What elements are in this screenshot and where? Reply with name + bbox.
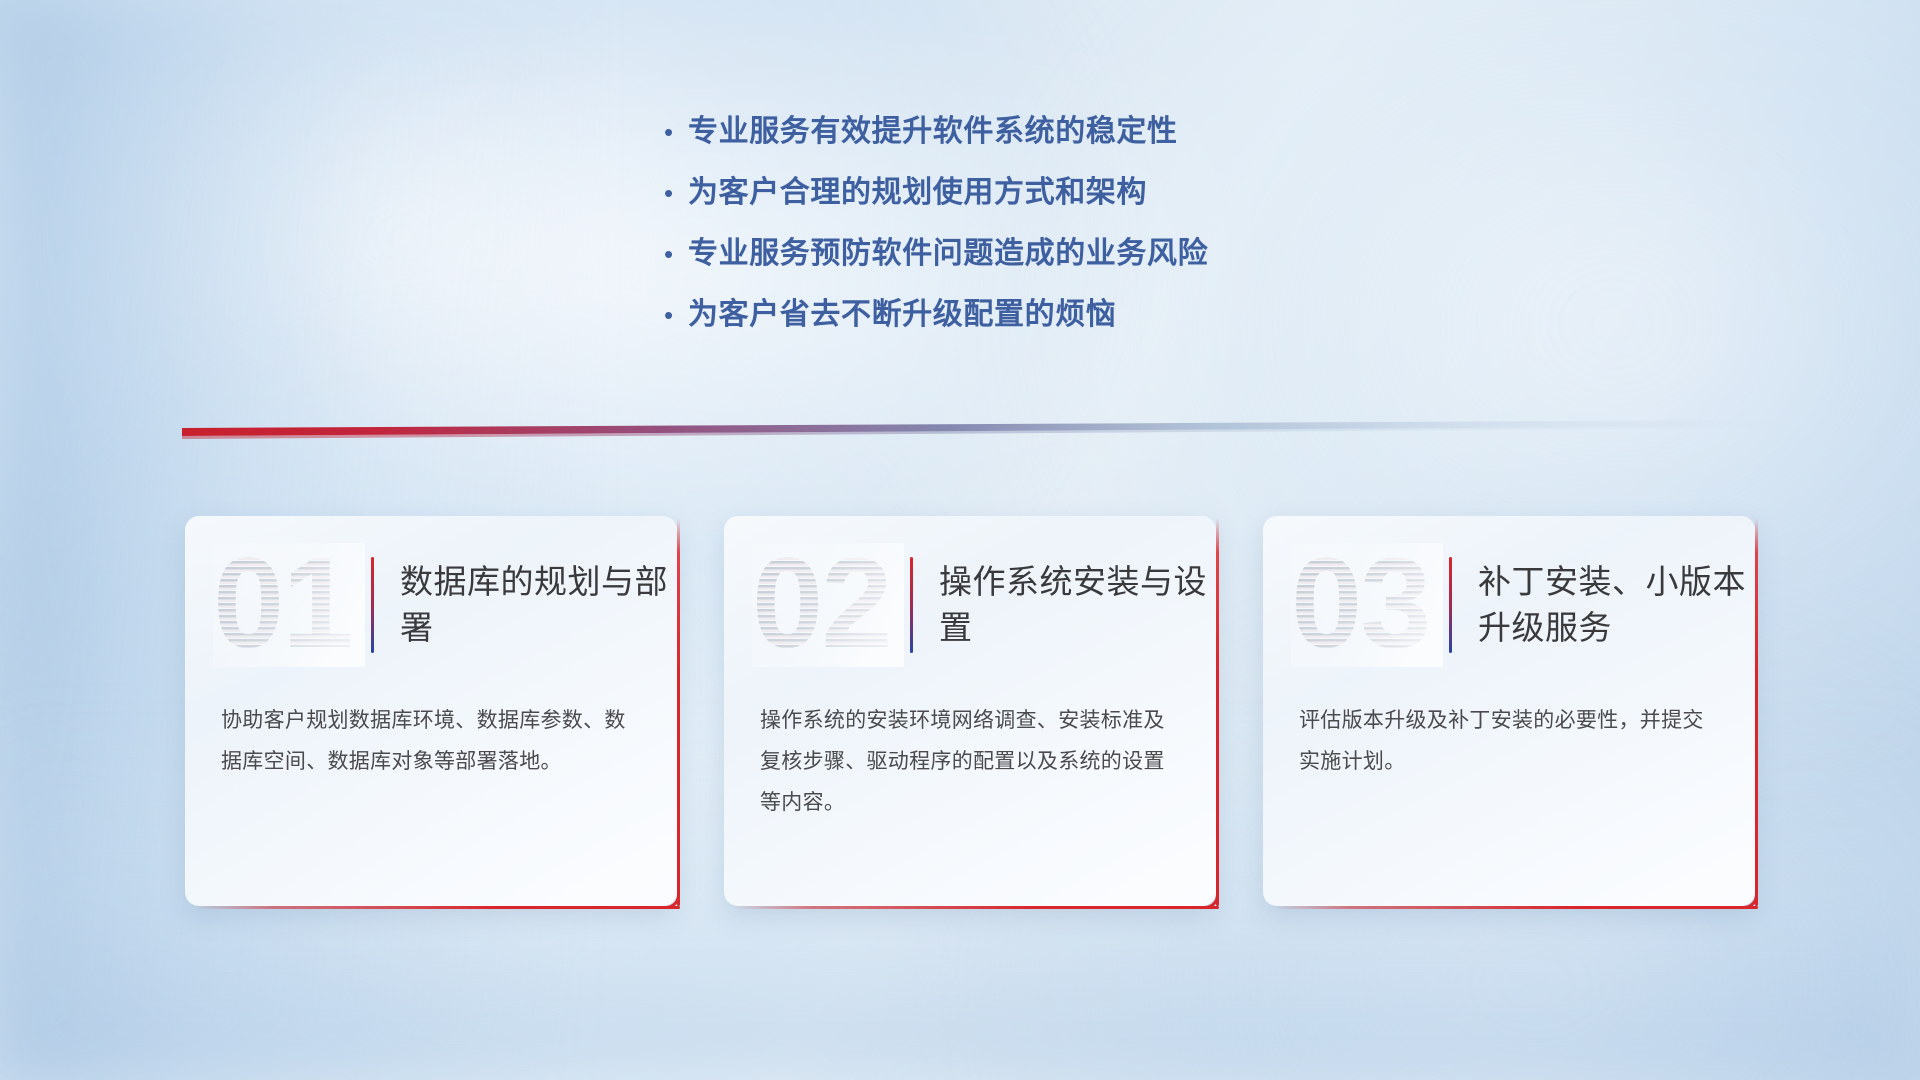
- bullet-dot-icon: •: [660, 295, 688, 335]
- card-description: 评估版本升级及补丁安装的必要性，并提交实施计划。: [1263, 694, 1755, 782]
- service-cards-row: 01 数据库的规划与部署 协助客户规划数据库环境、数据库参数、数据库空间、数据库…: [185, 516, 1755, 906]
- benefits-bullet-list: • 专业服务有效提升软件系统的稳定性 • 为客户合理的规划使用方式和架构 • 专…: [660, 112, 1560, 356]
- card-accent-corner: [658, 887, 680, 909]
- card-accent-corner: [1736, 887, 1758, 909]
- card-header: 02 操作系统安装与设置: [724, 516, 1216, 694]
- service-card-02[interactable]: 02 操作系统安装与设置 操作系统的安装环境网络调查、安装标准及复核步骤、驱动程…: [724, 516, 1216, 906]
- card-accent-corner: [1197, 887, 1219, 909]
- card-number-02-striped-icon: 02: [752, 543, 904, 667]
- card-title: 操作系统安装与设置: [939, 559, 1216, 651]
- section-divider: [182, 420, 1782, 446]
- card-title: 数据库的规划与部署: [400, 559, 677, 651]
- bullet-text: 专业服务预防软件问题造成的业务风险: [688, 234, 1208, 274]
- card-number-03-striped-icon: 03: [1291, 543, 1443, 667]
- card-title: 补丁安装、小版本升级服务: [1478, 559, 1755, 651]
- bullet-item: • 专业服务预防软件问题造成的业务风险: [660, 234, 1560, 274]
- bullet-text: 为客户省去不断升级配置的烦恼: [688, 295, 1116, 335]
- card-header: 03 补丁安装、小版本升级服务: [1263, 516, 1755, 694]
- slide-canvas: • 专业服务有效提升软件系统的稳定性 • 为客户合理的规划使用方式和架构 • 专…: [0, 0, 1920, 1080]
- card-description: 操作系统的安装环境网络调查、安装标准及复核步骤、驱动程序的配置以及系统的设置等内…: [724, 694, 1216, 823]
- service-card-01[interactable]: 01 数据库的规划与部署 协助客户规划数据库环境、数据库参数、数据库空间、数据库…: [185, 516, 677, 906]
- bullet-dot-icon: •: [660, 112, 688, 152]
- card-number-01-striped-icon: 01: [213, 543, 365, 667]
- bullet-item: • 专业服务有效提升软件系统的稳定性: [660, 112, 1560, 152]
- card-accent-right-edge: [677, 518, 680, 906]
- card-accent-right-edge: [1216, 518, 1219, 906]
- bullet-item: • 为客户合理的规划使用方式和架构: [660, 173, 1560, 213]
- service-card-03[interactable]: 03 补丁安装、小版本升级服务 评估版本升级及补丁安装的必要性，并提交实施计划。: [1263, 516, 1755, 906]
- card-title-accent-bar: [1449, 557, 1452, 653]
- bullet-text: 为客户合理的规划使用方式和架构: [688, 173, 1147, 213]
- bullet-item: • 为客户省去不断升级配置的烦恼: [660, 295, 1560, 335]
- bullet-dot-icon: •: [660, 234, 688, 274]
- bullet-dot-icon: •: [660, 173, 688, 213]
- card-description: 协助客户规划数据库环境、数据库参数、数据库空间、数据库对象等部署落地。: [185, 694, 677, 782]
- card-header: 01 数据库的规划与部署: [185, 516, 677, 694]
- bullet-text: 专业服务有效提升软件系统的稳定性: [688, 112, 1178, 152]
- card-title-accent-bar: [371, 557, 374, 653]
- card-title-accent-bar: [910, 557, 913, 653]
